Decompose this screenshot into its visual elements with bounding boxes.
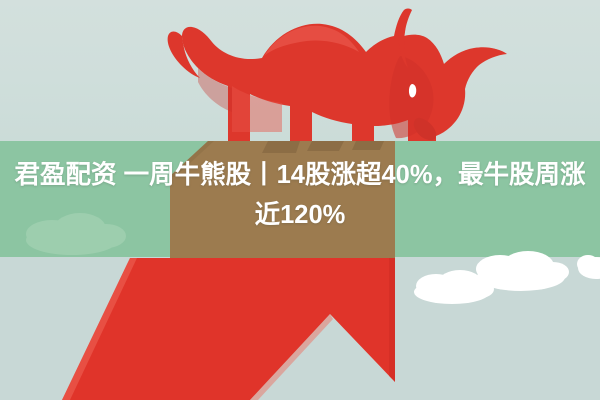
white-cloud-right-icon — [577, 255, 600, 279]
page-title: 君盈配资 一周牛熊股丨14股涨超40%，最牛股周涨 近120% — [0, 155, 600, 235]
red-bull-silhouette-icon — [168, 9, 507, 142]
white-cloud-middle-icon — [476, 251, 569, 291]
headline-line-1: 君盈配资 一周牛熊股丨14股涨超40%，最牛股周涨 — [15, 161, 586, 189]
poster-canvas: 君盈配资 一周牛熊股丨14股涨超40%，最牛股周涨 近120% — [0, 0, 600, 400]
red-upward-arrow-icon — [62, 258, 395, 400]
headline-line-2: 近120% — [0, 195, 600, 235]
